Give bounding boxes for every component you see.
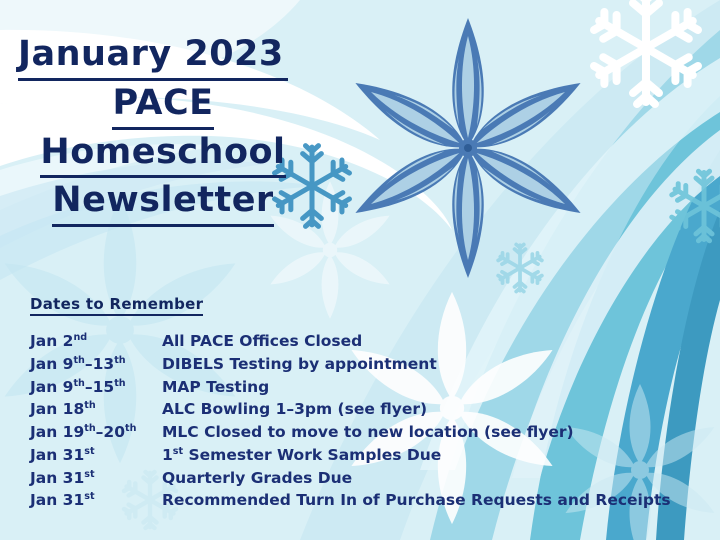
dates-table-body: Jan 2ndAll PACE Offices ClosedJan 9th–13… [30,330,671,512]
description-cell: MAP Testing [160,376,671,399]
table-row: Jan 31stRecommended Turn In of Purchase … [30,489,671,512]
table-row: Jan 31stQuarterly Grades Due [30,467,671,490]
date-cell: Jan 31st [30,467,160,490]
table-row: Jan 2ndAll PACE Offices Closed [30,330,671,353]
description-cell: DIBELS Testing by appointment [160,353,671,376]
newsletter-slide: January 2023 PACE Homeschool Newsletter … [0,0,720,540]
description-cell: MLC Closed to move to new location (see … [160,421,671,444]
date-cell: Jan 9th–15th [30,376,160,399]
description-cell: All PACE Offices Closed [160,330,671,353]
description-cell: Recommended Turn In of Purchase Requests… [160,489,671,512]
table-row: Jan 31st1st Semester Work Samples Due [30,444,671,467]
title-line-3: Homeschool [18,130,308,179]
title-line-2-text: PACE [112,81,213,130]
description-cell: 1st Semester Work Samples Due [160,444,671,467]
date-cell: Jan 31st [30,489,160,512]
date-cell: Jan 9th–13th [30,353,160,376]
dates-table: Jan 2ndAll PACE Offices ClosedJan 9th–13… [30,330,671,512]
table-row: Jan 9th–13thDIBELS Testing by appointmen… [30,353,671,376]
table-row: Jan 18thALC Bowling 1–3pm (see flyer) [30,398,671,421]
date-cell: Jan 19th–20th [30,421,160,444]
title-line-1-text: January 2023 [18,32,288,81]
title-line-4: Newsletter [18,178,308,227]
title-line-2: PACE [18,81,308,130]
title-line-1: January 2023 [18,32,308,81]
title-line-4-text: Newsletter [52,178,273,227]
date-cell: Jan 31st [30,444,160,467]
title-line-3-text: Homeschool [40,130,285,179]
description-cell: Quarterly Grades Due [160,467,671,490]
table-row: Jan 9th–15thMAP Testing [30,376,671,399]
description-cell: ALC Bowling 1–3pm (see flyer) [160,398,671,421]
dates-heading: Dates to Remember [30,295,203,316]
table-row: Jan 19th–20thMLC Closed to move to new l… [30,421,671,444]
page-title: January 2023 PACE Homeschool Newsletter [18,32,308,227]
dates-to-remember-section: Dates to Remember Jan 2ndAll PACE Office… [30,294,671,512]
date-cell: Jan 18th [30,398,160,421]
date-cell: Jan 2nd [30,330,160,353]
